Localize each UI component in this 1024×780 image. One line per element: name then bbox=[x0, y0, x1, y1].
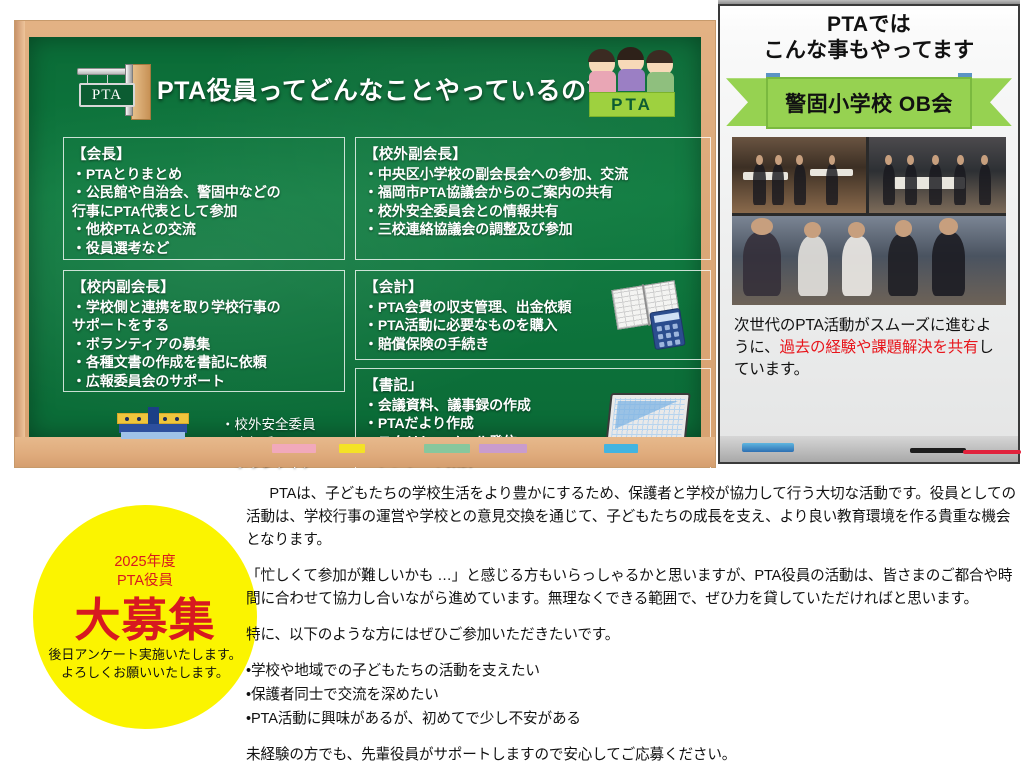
role-item-list: ・学校側と連携を取り学校行事の サポートをする ・ボランティアの募集 ・各種文書… bbox=[72, 298, 336, 390]
ob-kai-caption: 次世代のPTA活動がスムーズに進むように、過去の経験や課題解決を共有しています。 bbox=[734, 315, 1004, 381]
role-heading: 【校外副会長】 bbox=[364, 143, 702, 164]
role-item-list: ・PTAとりまとめ ・公民館や自治会、警固中などの 行事にPTA代表として参加 … bbox=[72, 165, 336, 257]
role-item: ・三校連絡協議会の調整及び参加 bbox=[364, 220, 702, 238]
photo-thumbnail bbox=[732, 216, 1006, 305]
body-bullet-item: •PTA活動に興味があるが、初めてで少し不安がある bbox=[246, 711, 581, 727]
badge-year-label: 2025年度 bbox=[114, 553, 175, 573]
badge-headline: 大募集 bbox=[75, 596, 216, 644]
badge-role-label: PTA役員 bbox=[117, 572, 173, 592]
chalkboard-frame: PTA PTA役員ってどんなことやっているの？ PTA 【会長】 bbox=[14, 20, 716, 468]
pta-family-icon: PTA bbox=[585, 45, 679, 117]
pta-sign-icon: PTA bbox=[75, 64, 151, 120]
pta-family-banner-label: PTA bbox=[589, 92, 675, 117]
role-heading: 【会長】 bbox=[72, 143, 336, 164]
role-item: ・広報委員会のサポート bbox=[72, 372, 336, 390]
role-heading: 【校内副会長】 bbox=[72, 276, 336, 297]
ob-kai-ribbon-label: 警固小学校 OB会 bbox=[766, 77, 972, 129]
blue-marker-icon bbox=[742, 443, 794, 452]
blackboard-eraser-icon bbox=[117, 413, 189, 439]
role-item: ・福岡市PTA協議会からのご案内の共有 bbox=[364, 183, 702, 201]
role-item: ・校外安全委員会との情報共有 bbox=[364, 202, 702, 220]
photo-thumbnail bbox=[869, 137, 1006, 213]
chalkboard-surface: PTA PTA役員ってどんなことやっているの？ PTA 【会長】 bbox=[29, 37, 701, 437]
body-copy: PTAは、子どもたちの学校生活をより豊かにするため、保護者と学校が協力して行う大… bbox=[246, 483, 1018, 780]
side-note-item: ・校外安全委員 bbox=[221, 415, 341, 434]
role-item: ・役員選考など bbox=[72, 239, 336, 257]
photo-thumbnail bbox=[732, 137, 866, 213]
role-box-kounai-fukukaicho: 【校内副会長】 ・学校側と連携を取り学校行事の サポートをする ・ボランティアの… bbox=[63, 270, 345, 392]
badge-note-line1: 後日アンケート実施いたします。 bbox=[48, 646, 241, 664]
caption-text-highlight: 過去の経験や課題解決を共有 bbox=[779, 339, 978, 356]
badge-note-line2: よろしくお願いいたします。 bbox=[61, 664, 229, 682]
role-item: ・中央区小学校の副会長会への参加、交流 bbox=[364, 165, 702, 183]
ob-kai-photo-collage bbox=[732, 137, 1006, 305]
ob-panel-title: PTAでは こんな事もやってます bbox=[720, 6, 1018, 65]
role-item: ・ボランティアの募集 bbox=[72, 335, 336, 353]
recruitment-badge: 2025年度 PTA役員 大募集 後日アンケート実施いたします。 よろしくお願い… bbox=[33, 505, 257, 729]
ob-kai-ribbon: 警固小学校 OB会 bbox=[726, 73, 1012, 129]
red-pen-icon bbox=[963, 450, 1021, 454]
body-paragraph-1: PTAは、子どもたちの学校生活をより豊かにするため、保護者と学校が協力して行う大… bbox=[246, 483, 1018, 552]
body-paragraph-3: 特に、以下のような方にはぜひご参加いただきたいです。 bbox=[246, 624, 1018, 647]
body-bullet-item: •学校や地域での子どもたちの活動を支えたい bbox=[246, 663, 540, 679]
body-bullet-list: •学校や地域での子どもたちの活動を支えたい •保護者同士で交流を深めたい •PT… bbox=[246, 660, 1018, 731]
role-box-kougai-fukukaicho: 【校外副会長】 ・中央区小学校の副会長会への参加、交流 ・福岡市PTA協議会から… bbox=[355, 137, 711, 260]
role-box-kaicho: 【会長】 ・PTAとりまとめ ・公民館や自治会、警固中などの 行事にPTA代表と… bbox=[63, 137, 345, 260]
chalk-ledge bbox=[29, 437, 701, 461]
pen-tray bbox=[720, 436, 1018, 462]
body-bullet-item: •保護者同士で交流を深めたい bbox=[246, 687, 439, 703]
board-title: PTA役員ってどんなことやっているの？ bbox=[157, 71, 627, 107]
body-paragraph-2: 「忙しくて参加が難しいかも …」と感じる方もいらっしゃるかと思いますが、PTA役… bbox=[246, 565, 1018, 611]
role-item: ・他校PTAとの交流 bbox=[72, 220, 336, 238]
role-heading: 【書記」 bbox=[364, 374, 702, 395]
role-item: ・各種文書の作成を書記に依頼 bbox=[72, 353, 336, 371]
black-pen-icon bbox=[910, 448, 966, 453]
role-box-kaikei: 【会計】 ・PTA会費の収支管理、出金依頼 ・PTA活動に必要なものを購入 ・賠… bbox=[355, 270, 711, 360]
notebook-calculator-icon bbox=[612, 285, 696, 349]
role-item: ・PTAとりまとめ bbox=[72, 165, 336, 183]
pta-sign-label: PTA bbox=[79, 83, 135, 107]
body-paragraph-4: 未経験の方でも、先輩役員がサポートしますので安心してご応募ください。 bbox=[246, 744, 1018, 767]
ob-panel-title-line1: PTAでは bbox=[724, 12, 1014, 38]
role-item: ・公民館や自治会、警固中などの 行事にPTA代表として参加 bbox=[72, 183, 336, 220]
poster-root: PTA PTA役員ってどんなことやっているの？ PTA 【会長】 bbox=[0, 0, 1024, 772]
ob-kai-panel: PTAでは こんな事もやってます 警固小学校 OB会 bbox=[718, 4, 1020, 464]
ob-panel-title-line2: こんな事もやってます bbox=[724, 38, 1014, 64]
role-item-list: ・中央区小学校の副会長会への参加、交流 ・福岡市PTA協議会からのご案内の共有 … bbox=[364, 165, 702, 239]
role-item: ・学校側と連携を取り学校行事の サポートをする bbox=[72, 298, 336, 335]
